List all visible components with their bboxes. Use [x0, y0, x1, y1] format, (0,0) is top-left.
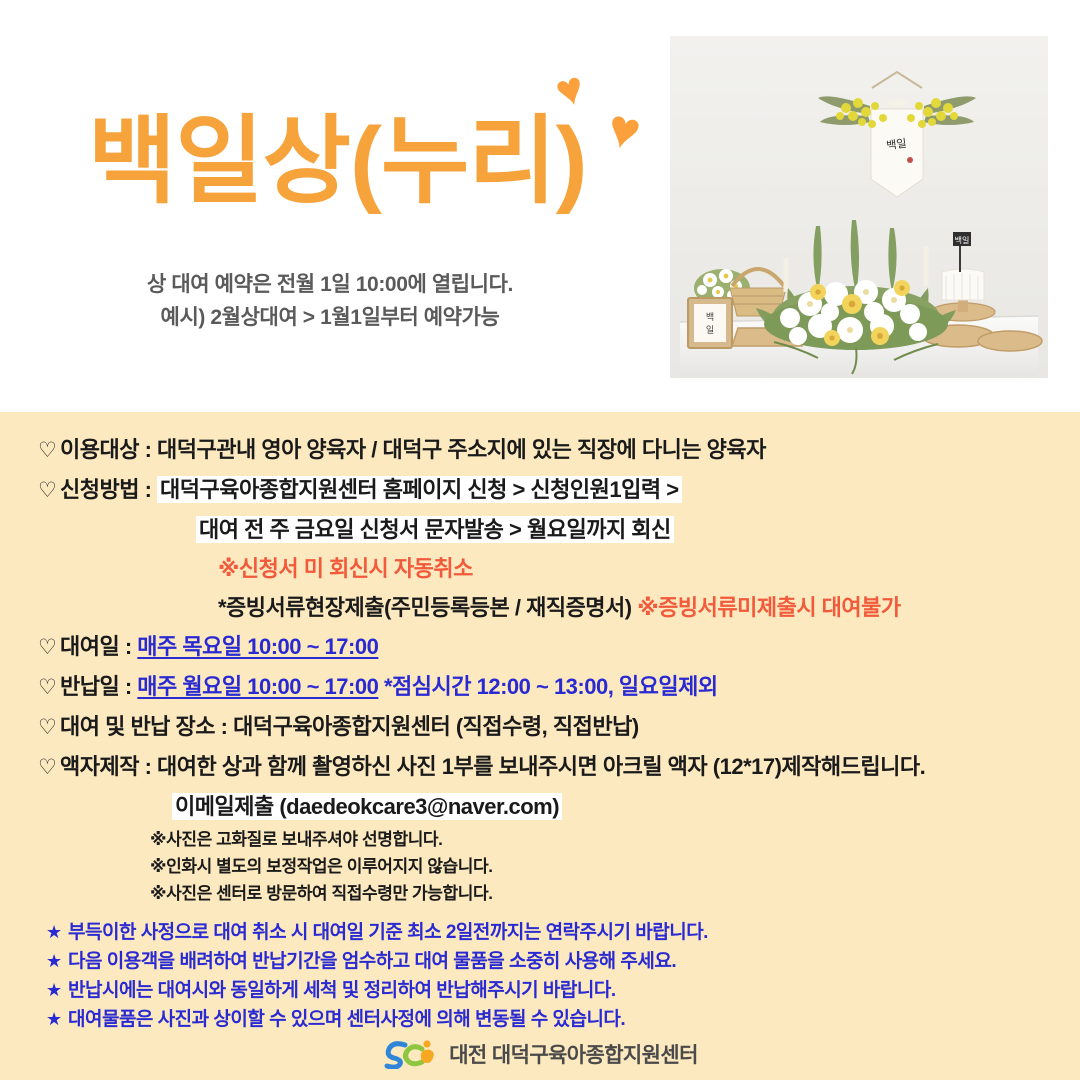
- baekilsang-table-photo: 백일: [670, 36, 1048, 378]
- row-frame-production-value: 대여한 상과 함께 촬영하신 사진 1부를 보내주시면 아크릴 액자 (12*1…: [157, 754, 925, 779]
- page-title: 백일상(누리): [88, 112, 587, 213]
- row-required-documents-warning: ※증빙서류미제출시 대여불가: [637, 595, 900, 620]
- row-apply-method: ♡신청방법 : 대덕구육아종합지원센터 홈페이지 신청 > 신청인원1입력 >: [0, 470, 1080, 510]
- heart-bullet-icon: ♡: [38, 668, 60, 707]
- row-required-documents: *증빙서류현장제출(주민등록등본 / 재직증명서) ※증빙서류미제출시 대여불가: [0, 588, 1080, 627]
- photo-note-1: ※사진은 고화질로 보내주셔야 선명합니다.: [0, 826, 1080, 853]
- email-address[interactable]: (daedeokcare3@naver.com): [279, 794, 559, 819]
- row-location: ♡대여 및 반납 장소 : 대덕구육아종합지원센터 (직접수령, 직접반납): [0, 707, 1080, 747]
- svg-text:백: 백: [706, 312, 714, 323]
- photo-note-2: ※인화시 별도의 보정작업은 이루어지지 않습니다.: [0, 853, 1080, 880]
- footer-bar: 대전 대덕구육아종합지원센터: [0, 1028, 1080, 1080]
- star-note-4-text: 대여물품은 사진과 상이할 수 있으며 센터사정에 의해 변동될 수 있습니다.: [68, 1009, 625, 1030]
- row-apply-red-note: ※신청서 미 회신시 자동취소: [0, 549, 1080, 588]
- row-return-day: ♡반납일 : 매주 월요일 10:00 ~ 17:00 *점심시간 12:00 …: [0, 667, 1080, 707]
- row-location-label: 대여 및 반납 장소 :: [60, 714, 227, 739]
- heart-decoration-icon: ♥: [602, 100, 646, 160]
- photo-note-3: ※사진은 센터로 방문하여 직접수령만 가능합니다.: [0, 880, 1080, 907]
- star-notes-block: ★부득이한 사정으로 대여 취소 시 대여일 기준 최소 2일전까지는 연락주시…: [0, 918, 1080, 1034]
- svg-text:일: 일: [706, 325, 714, 336]
- row-apply-method-continued: 대여 전 주 금요일 신청서 문자발송 > 월요일까지 회신: [0, 510, 1080, 549]
- row-location-value: 대덕구육아종합지원센터 (직접수령, 직접반납): [233, 714, 639, 739]
- star-bullet-icon: ★: [46, 918, 68, 947]
- row-return-day-extra: *점심시간 12:00 ~ 13:00, 일요일제외: [384, 674, 718, 699]
- row-return-day-label: 반납일 :: [60, 674, 132, 699]
- row-target-users-value: 대덕구관내 영아 양육자 / 대덕구 주소지에 있는 직장에 다니는 양육자: [157, 437, 766, 462]
- row-target-users-label: 이용대상 :: [60, 437, 151, 462]
- row-frame-production-label: 액자제작 :: [60, 754, 151, 779]
- hero-section: 백일상(누리) ♥ ♥ 상 대여 예약은 전월 1일 10:00에 열립니다. …: [0, 0, 1080, 412]
- star-note-2: ★다음 이용객을 배려하여 반납기간을 엄수하고 대여 물품을 소중히 사용해 …: [0, 947, 1080, 976]
- heart-bullet-icon: ♡: [38, 748, 60, 787]
- heart-bullet-icon: ♡: [38, 628, 60, 667]
- heart-bullet-icon: ♡: [38, 708, 60, 747]
- row-frame-production: ♡액자제작 : 대여한 상과 함께 촬영하신 사진 1부를 보내주시면 아크릴 …: [0, 747, 1080, 787]
- subtitle-block: 상 대여 예약은 전월 1일 10:00에 열립니다. 예시) 2월상대여 > …: [0, 268, 660, 334]
- info-panel: ♡이용대상 : 대덕구관내 영아 양육자 / 대덕구 주소지에 있는 직장에 다…: [0, 412, 1080, 1028]
- star-note-3-text: 반납시에는 대여시와 동일하게 세척 및 정리하여 반납해주시기 바랍니다.: [68, 980, 616, 1001]
- row-apply-method-label: 신청방법 :: [60, 477, 151, 502]
- star-bullet-icon: ★: [46, 947, 68, 976]
- star-note-1-text: 부득이한 사정으로 대여 취소 시 대여일 기준 최소 2일전까지는 연락주시기…: [68, 922, 708, 943]
- row-email-submit: 이메일제출 (daedeokcare3@naver.com): [0, 787, 1080, 826]
- heart-bullet-icon: ♡: [38, 431, 60, 470]
- heart-bullet-icon: ♡: [38, 471, 60, 510]
- row-apply-red-note-text: ※신청서 미 회신시 자동취소: [218, 556, 473, 581]
- row-apply-method-value: 대덕구육아종합지원센터 홈페이지 신청 > 신청인원1입력 >: [157, 476, 682, 503]
- star-note-1: ★부득이한 사정으로 대여 취소 시 대여일 기준 최소 2일전까지는 연락주시…: [0, 918, 1080, 947]
- footer-center-name: 대전 대덕구육아종합지원센터: [449, 1039, 698, 1069]
- star-note-2-text: 다음 이용객을 배려하여 반납기간을 엄수하고 대여 물품을 소중히 사용해 주…: [68, 951, 676, 972]
- row-rental-day-value: 매주 목요일 10:00 ~ 17:00: [137, 634, 378, 659]
- row-email-submit-text: 이메일제출 (daedeokcare3@naver.com): [172, 793, 562, 820]
- row-target-users: ♡이용대상 : 대덕구관내 영아 양육자 / 대덕구 주소지에 있는 직장에 다…: [0, 430, 1080, 470]
- hero-left-column: 백일상(누리) ♥ ♥ 상 대여 예약은 전월 1일 10:00에 열립니다. …: [0, 0, 660, 412]
- svg-text:백일: 백일: [955, 235, 970, 245]
- star-bullet-icon: ★: [46, 976, 68, 1005]
- email-submit-label: 이메일제출: [175, 794, 274, 819]
- center-logo-icon: [382, 1039, 440, 1069]
- subtitle-line-2: 예시) 2월상대여 > 1월1일부터 예약가능: [0, 301, 660, 334]
- row-apply-method-cont-value: 대여 전 주 금요일 신청서 문자발송 > 월요일까지 회신: [196, 516, 674, 543]
- row-required-documents-text: *증빙서류현장제출(주민등록등본 / 재직증명서): [218, 595, 632, 620]
- subtitle-line-1: 상 대여 예약은 전월 1일 10:00에 열립니다.: [0, 268, 660, 301]
- row-rental-day-label: 대여일 :: [60, 634, 132, 659]
- row-rental-day: ♡대여일 : 매주 목요일 10:00 ~ 17:00: [0, 627, 1080, 667]
- row-return-day-value: 매주 월요일 10:00 ~ 17:00: [137, 674, 378, 699]
- star-note-3: ★반납시에는 대여시와 동일하게 세척 및 정리하여 반납해주시기 바랍니다.: [0, 976, 1080, 1005]
- svg-text:백일: 백일: [885, 136, 907, 153]
